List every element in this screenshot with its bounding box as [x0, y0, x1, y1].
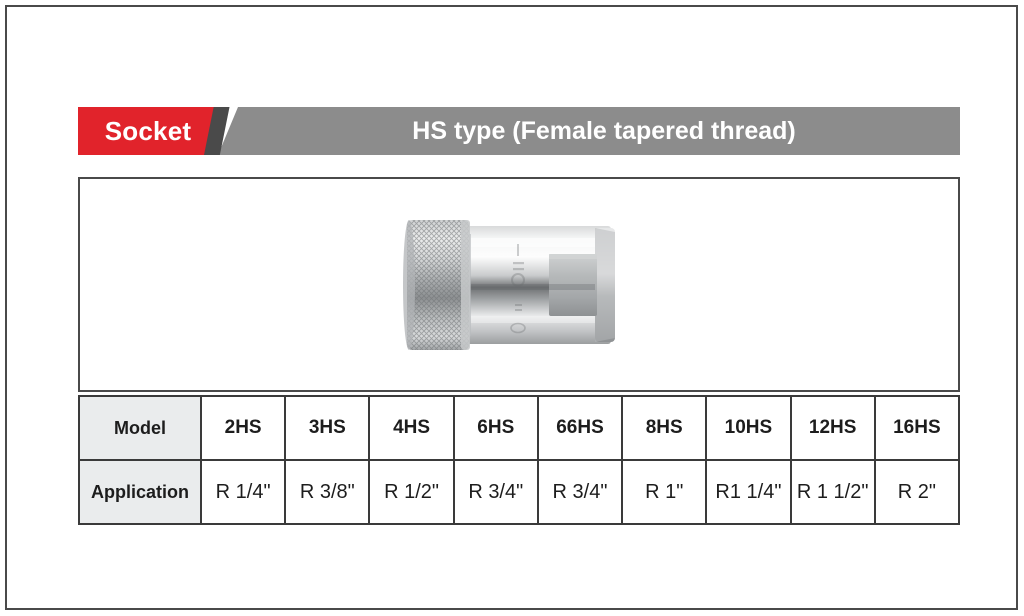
cell-model-2: 3HS: [285, 396, 369, 460]
quick-coupler-socket-photo: [399, 216, 639, 354]
product-image-panel: [78, 177, 960, 392]
cell-model-1: 2HS: [201, 396, 285, 460]
table-row-application: Application R 1/4" R 3/8" R 1/2" R 3/4" …: [79, 460, 959, 524]
table-row-model: Model 2HS 3HS 4HS 6HS 66HS 8HS 10HS 12HS…: [79, 396, 959, 460]
cell-model-9: 16HS: [875, 396, 959, 460]
section-banner: Socket HS type (Female tapered thread): [78, 107, 960, 155]
banner-title: HS type (Female tapered thread): [248, 107, 960, 155]
cell-model-6: 8HS: [622, 396, 706, 460]
cell-application-9: R 2": [875, 460, 959, 524]
cell-model-5: 66HS: [538, 396, 622, 460]
cell-model-7: 10HS: [706, 396, 790, 460]
cell-application-6: R 1": [622, 460, 706, 524]
row-label-model: Model: [79, 396, 201, 460]
cell-model-4: 6HS: [454, 396, 538, 460]
cell-application-3: R 1/2": [369, 460, 453, 524]
cell-application-1: R 1/4": [201, 460, 285, 524]
page-frame: Socket HS type (Female tapered thread): [5, 5, 1018, 610]
banner-category-label: Socket: [78, 107, 218, 155]
cell-application-2: R 3/8": [285, 460, 369, 524]
cell-application-8: R 1 1/2": [791, 460, 875, 524]
cell-model-3: 4HS: [369, 396, 453, 460]
row-label-application: Application: [79, 460, 201, 524]
specification-table: Model 2HS 3HS 4HS 6HS 66HS 8HS 10HS 12HS…: [78, 395, 960, 525]
cell-application-7: R1 1/4": [706, 460, 790, 524]
cell-application-5: R 3/4": [538, 460, 622, 524]
cell-application-4: R 3/4": [454, 460, 538, 524]
cell-model-8: 12HS: [791, 396, 875, 460]
